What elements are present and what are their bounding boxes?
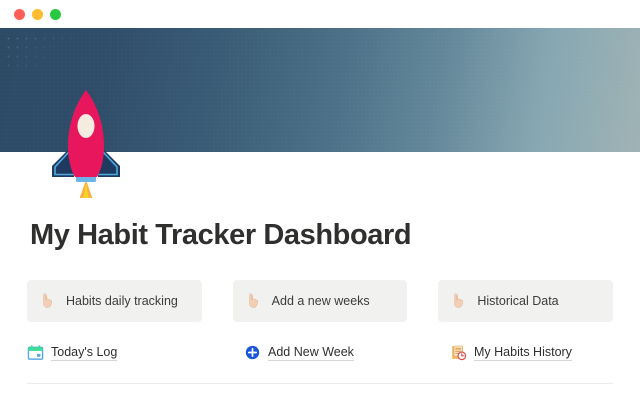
card-habits-daily-tracking[interactable]: Habits daily tracking [27, 280, 202, 322]
quick-links-card-row: Habits daily tracking Add a new weeks Hi… [27, 280, 613, 322]
page-link-row: Today's Log Add New Week My Habits Histo… [27, 344, 613, 361]
card-historical-data[interactable]: Historical Data [438, 280, 613, 322]
point-down-hand-icon [451, 293, 467, 309]
card-label: Habits daily tracking [66, 294, 178, 308]
card-label: Historical Data [477, 294, 558, 308]
page-divider [27, 383, 613, 384]
link-add-new-week[interactable]: Add New Week [244, 344, 450, 361]
banner-corner-dots [4, 34, 74, 72]
link-label: Add New Week [268, 345, 354, 361]
zoom-window-button[interactable] [50, 9, 61, 20]
card-add-a-new-weeks[interactable]: Add a new weeks [233, 280, 408, 322]
point-down-hand-icon [246, 293, 262, 309]
rocket-icon [44, 88, 128, 198]
page-title: My Habit Tracker Dashboard [30, 219, 411, 252]
link-label: Today's Log [51, 345, 117, 361]
close-window-button[interactable] [14, 9, 25, 20]
minimize-window-button[interactable] [32, 9, 43, 20]
window-titlebar [0, 0, 640, 28]
point-down-hand-icon [40, 293, 56, 309]
link-my-habits-history[interactable]: My Habits History [450, 344, 572, 361]
link-label: My Habits History [474, 345, 572, 361]
card-label: Add a new weeks [272, 294, 370, 308]
calendar-icon [27, 344, 44, 361]
plus-circle-icon [244, 344, 261, 361]
link-todays-log[interactable]: Today's Log [27, 344, 244, 361]
document-history-icon [450, 344, 467, 361]
